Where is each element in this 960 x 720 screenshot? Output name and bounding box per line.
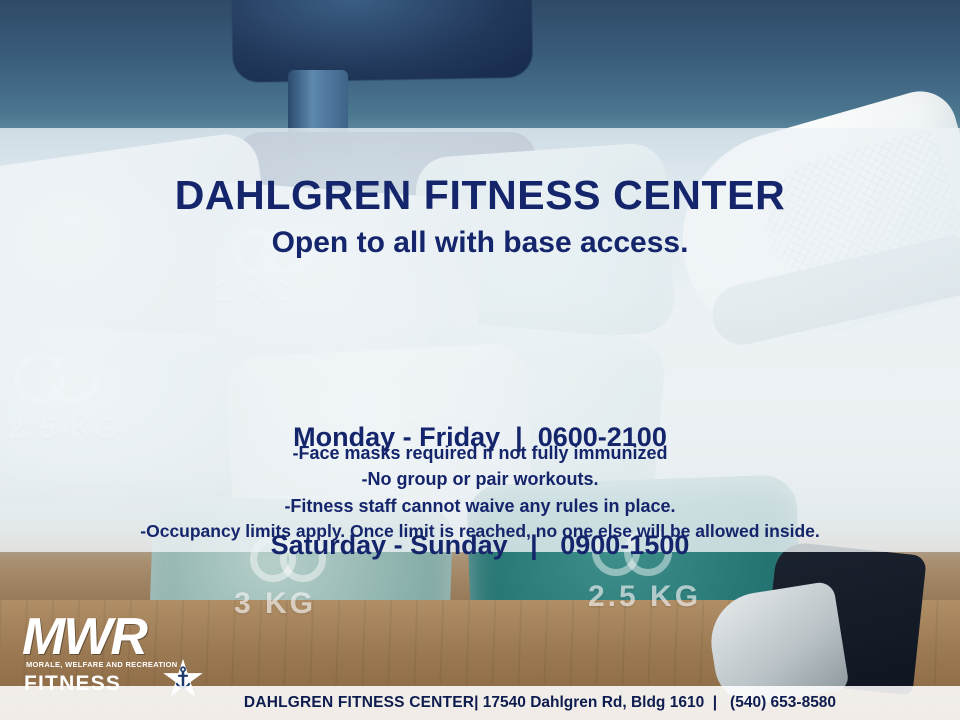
footer-facility-name: DAHLGREN FITNESS CENTER xyxy=(244,694,474,711)
footer-text: DAHLGREN FITNESS CENTER| 17540 Dahlgren … xyxy=(244,694,836,712)
footer-address-phone: | 17540 Dahlgren Rd, Bldg 1610 | (540) 6… xyxy=(474,694,836,711)
rule-no-group-workouts: -No group or pair workouts. xyxy=(0,466,960,492)
rules-list: -Face masks required if not fully immuni… xyxy=(0,440,960,545)
page-subtitle: Open to all with base access. xyxy=(0,226,960,260)
dark-dumbbell-head-top xyxy=(231,0,533,83)
rule-occupancy-limits: -Occupancy limits apply. Once limit is r… xyxy=(0,519,960,545)
footer-bar: DAHLGREN FITNESS CENTER| 17540 Dahlgren … xyxy=(0,686,960,720)
mwr-logo-letters: MWR xyxy=(22,610,212,664)
fitness-center-flyer: 2 KG 2.5 KG 2 KG 3 KG 2.5 KG DAHLGREN FI… xyxy=(0,0,960,720)
page-title: DAHLGREN FITNESS CENTER xyxy=(0,172,960,219)
rule-staff-cannot-waive: -Fitness staff cannot waive any rules in… xyxy=(0,493,960,519)
rule-masks: -Face masks required if not fully immuni… xyxy=(0,440,960,466)
